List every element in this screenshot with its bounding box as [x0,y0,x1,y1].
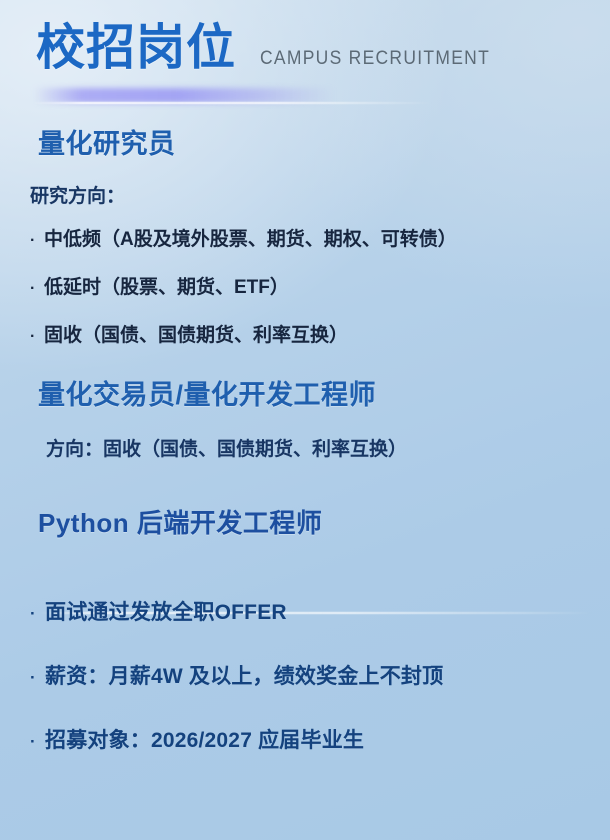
list-item-label: 面试通过发放全职OFFER [45,596,287,626]
section-quant-trader-developer: 量化交易员/量化开发工程师 方向：固收（国债、国债期货、利率互换） [30,373,580,461]
bullet-dot-icon: · [30,281,44,297]
page-title: 校招岗位 [36,24,236,73]
poster-header: 校招岗位 CAMPUS RECRUITMENT [0,0,610,73]
sub-label-direction: 方向：固收（国债、国债期货、利率互换） [46,434,580,461]
list-item: · 面试通过发放全职OFFER [30,596,580,626]
poster-highlights-container: · 面试通过发放全职OFFER · 薪资：月薪4W 及以上，绩效奖金上不封顶 ·… [0,596,610,754]
section-python-backend-engineer: Python 后端开发工程师 [30,503,580,540]
header-divider [34,102,434,104]
highlight-list: · 面试通过发放全职OFFER · 薪资：月薪4W 及以上，绩效奖金上不封顶 ·… [30,596,580,754]
list-item-label: 中低频（A股及境外股票、期货、期权、可转债） [44,224,457,251]
poster-content: 量化研究员 研究方向： · 中低频（A股及境外股票、期货、期权、可转债） · 低… [0,122,610,540]
section-title-quant-researcher: 量化研究员 [38,122,580,161]
list-item: · 低延时（股票、期货、ETF） [30,272,580,299]
list-item: · 中低频（A股及境外股票、期货、期权、可转债） [30,224,580,251]
campus-recruitment-poster: 校招岗位 CAMPUS RECRUITMENT 量化研究员 研究方向： · 中低… [0,0,610,840]
list-item-label: 固收（国债、国债期货、利率互换） [44,320,348,347]
bullet-dot-icon: · [30,605,45,622]
list-item: · 薪资：月薪4W 及以上，绩效奖金上不封顶 [30,660,580,690]
section-title-python-backend-engineer: Python 后端开发工程师 [38,503,580,540]
sub-label-research-direction: 研究方向： [30,181,580,208]
bullet-list-research-directions: · 中低频（A股及境外股票、期货、期权、可转债） · 低延时（股票、期货、ETF… [30,224,580,347]
header-glow-accent [34,88,334,103]
list-item: · 招募对象：2026/2027 应届毕业生 [30,724,580,754]
bullet-dot-icon: · [30,329,44,345]
bullet-dot-icon: · [30,733,45,750]
list-item-label: 招募对象：2026/2027 应届毕业生 [45,724,364,754]
list-item-label: 低延时（股票、期货、ETF） [44,272,289,299]
section-quant-researcher: 量化研究员 研究方向： · 中低频（A股及境外股票、期货、期权、可转债） · 低… [30,122,580,347]
page-subtitle-english: CAMPUS RECRUITMENT [260,48,490,70]
section-title-quant-trader-developer: 量化交易员/量化开发工程师 [38,373,580,412]
bullet-dot-icon: · [30,233,44,249]
bullet-dot-icon: · [30,669,45,686]
list-item-label: 薪资：月薪4W 及以上，绩效奖金上不封顶 [45,660,443,690]
list-item: · 固收（国债、国债期货、利率互换） [30,320,580,347]
